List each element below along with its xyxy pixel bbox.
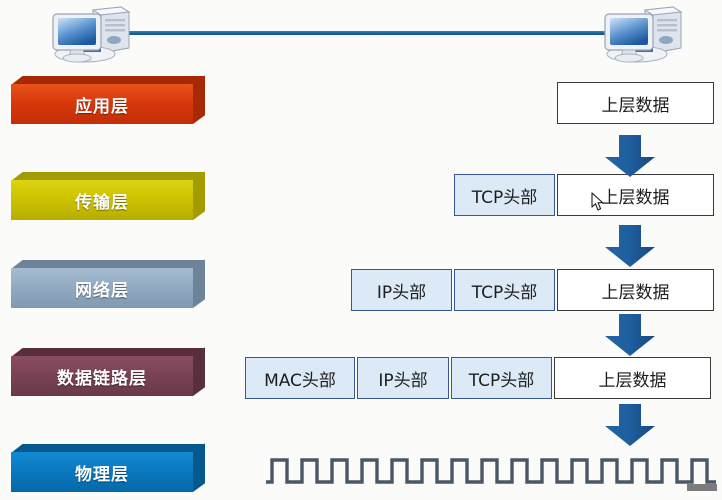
packet-cell-ip-header[interactable]: IP头部 (351, 269, 452, 311)
down-arrow-icon-datalink-to-physical (601, 404, 659, 450)
packet-cell-label: IP头部 (377, 278, 426, 303)
packet-cell-label: MAC头部 (264, 366, 336, 391)
down-arrow-icon-network-to-datalink (601, 314, 659, 360)
corner-marker (687, 484, 717, 491)
layer-label-network: 网络层 (75, 276, 129, 301)
packet-row-transport: TCP头部 上层数据 (454, 174, 714, 216)
packet-cell-label: TCP头部 (472, 183, 538, 208)
packet-cell-label: TCP头部 (472, 278, 538, 303)
packet-cell-label: TCP头部 (469, 366, 535, 391)
layer-face: 传输层 (11, 180, 193, 220)
layer-label-application: 应用层 (75, 92, 129, 117)
packet-cell-label: 上层数据 (599, 366, 667, 391)
layer-box-network[interactable]: 网络层 (11, 260, 205, 308)
square-wave-signal (266, 448, 716, 496)
mouse-cursor (591, 192, 605, 210)
layer-face: 物理层 (11, 452, 193, 492)
layer-face: 网络层 (11, 268, 193, 308)
packet-cell-tcp-header[interactable]: TCP头部 (451, 357, 552, 399)
packet-row-datalink: MAC头部 IP头部 TCP头部 上层数据 (245, 357, 711, 399)
packet-cell-tcp-header[interactable]: TCP头部 (454, 174, 555, 216)
packet-cell-label: 上层数据 (602, 278, 670, 303)
down-arrow-icon-app-to-transport (601, 135, 659, 181)
layer-side-bevel (193, 259, 205, 308)
layer-face: 数据链路层 (11, 356, 193, 396)
packet-cell-payload[interactable]: 上层数据 (554, 357, 711, 399)
layer-label-physical: 物理层 (75, 460, 129, 485)
packet-cell-mac-header[interactable]: MAC头部 (245, 357, 355, 399)
layer-side-bevel (193, 443, 205, 492)
layer-side-bevel (193, 171, 205, 220)
layer-box-application[interactable]: 应用层 (11, 76, 205, 124)
layer-label-transport: 传输层 (75, 188, 129, 213)
packet-row-application: 上层数据 (557, 82, 714, 124)
packet-cell-payload[interactable]: 上层数据 (557, 82, 714, 124)
layer-label-datalink: 数据链路层 (57, 364, 147, 389)
receiver-computer-icon (597, 4, 689, 66)
packet-cell-label: 上层数据 (602, 91, 670, 116)
packet-row-network: IP头部 TCP头部 上层数据 (351, 269, 714, 311)
packet-cell-label: IP头部 (378, 366, 427, 391)
packet-cell-ip-header[interactable]: IP头部 (357, 357, 449, 399)
network-link-line (118, 31, 606, 35)
sender-computer-icon (45, 4, 137, 66)
down-arrow-icon-transport-to-network (601, 225, 659, 271)
layer-side-bevel (193, 347, 205, 396)
layer-box-datalink[interactable]: 数据链路层 (11, 348, 205, 396)
layer-face: 应用层 (11, 84, 193, 124)
packet-cell-payload[interactable]: 上层数据 (557, 269, 714, 311)
packet-cell-label: 上层数据 (602, 183, 670, 208)
diagram-canvas: 应用层 传输层 网络层 数据链路层 物理层 上层数据 (0, 0, 722, 500)
layer-box-physical[interactable]: 物理层 (11, 444, 205, 492)
layer-side-bevel (193, 75, 205, 124)
packet-cell-tcp-header[interactable]: TCP头部 (454, 269, 555, 311)
layer-box-transport[interactable]: 传输层 (11, 172, 205, 220)
